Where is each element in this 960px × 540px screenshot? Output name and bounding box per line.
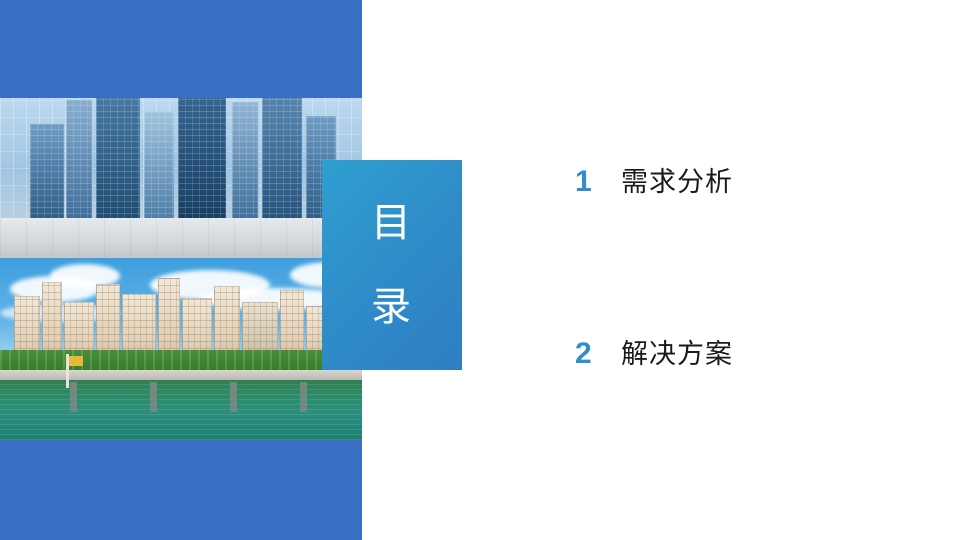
pier-pillar: [150, 382, 157, 412]
pier-pillar: [230, 382, 237, 412]
building-shape: [182, 298, 212, 356]
toc-item-1-number: 1: [575, 165, 621, 199]
pier-pillar: [70, 382, 77, 412]
building-shape: [96, 98, 140, 220]
toc-title-box: 目 录: [322, 160, 462, 370]
toc-item-2-number: 2: [575, 337, 621, 371]
building-shape: [42, 282, 62, 356]
riverside-city-photo: [0, 258, 362, 440]
toc-item-2[interactable]: 2 解决方案: [575, 332, 915, 392]
riverbank-walkway: [0, 370, 362, 380]
flag-pole: [66, 354, 69, 388]
building-shape: [232, 102, 258, 220]
building-shape: [144, 112, 174, 220]
building-shape: [14, 296, 40, 356]
toc-item-2-label: 解决方案: [621, 332, 733, 371]
toc-title-char-1: 目: [371, 203, 413, 243]
building-shape: [96, 284, 120, 356]
river-water: [0, 380, 362, 440]
plaza-floor: [0, 218, 362, 258]
slide-canvas: 目 录 1 需求分析 2 解决方案: [0, 0, 960, 540]
building-shape: [242, 302, 278, 356]
building-shape: [122, 294, 156, 356]
building-shape: [66, 100, 92, 220]
building-shape: [214, 286, 240, 356]
photo-sky-layer: [0, 98, 362, 258]
glass-skyscrapers-photo: [0, 98, 362, 258]
toc-list: 1 需求分析 2 解决方案: [575, 160, 915, 392]
toc-title-char-2: 录: [371, 287, 413, 327]
building-shape: [280, 290, 304, 356]
building-shape: [262, 98, 302, 220]
toc-item-1-label: 需求分析: [621, 160, 733, 199]
pier-pillar: [300, 382, 307, 412]
building-shape: [158, 278, 180, 356]
building-shape: [30, 124, 64, 220]
toc-item-1[interactable]: 1 需求分析: [575, 160, 915, 220]
photo-sky-layer: [0, 258, 362, 440]
building-shape: [64, 302, 94, 356]
building-shape: [178, 98, 226, 220]
treeline-shape: [0, 350, 362, 372]
